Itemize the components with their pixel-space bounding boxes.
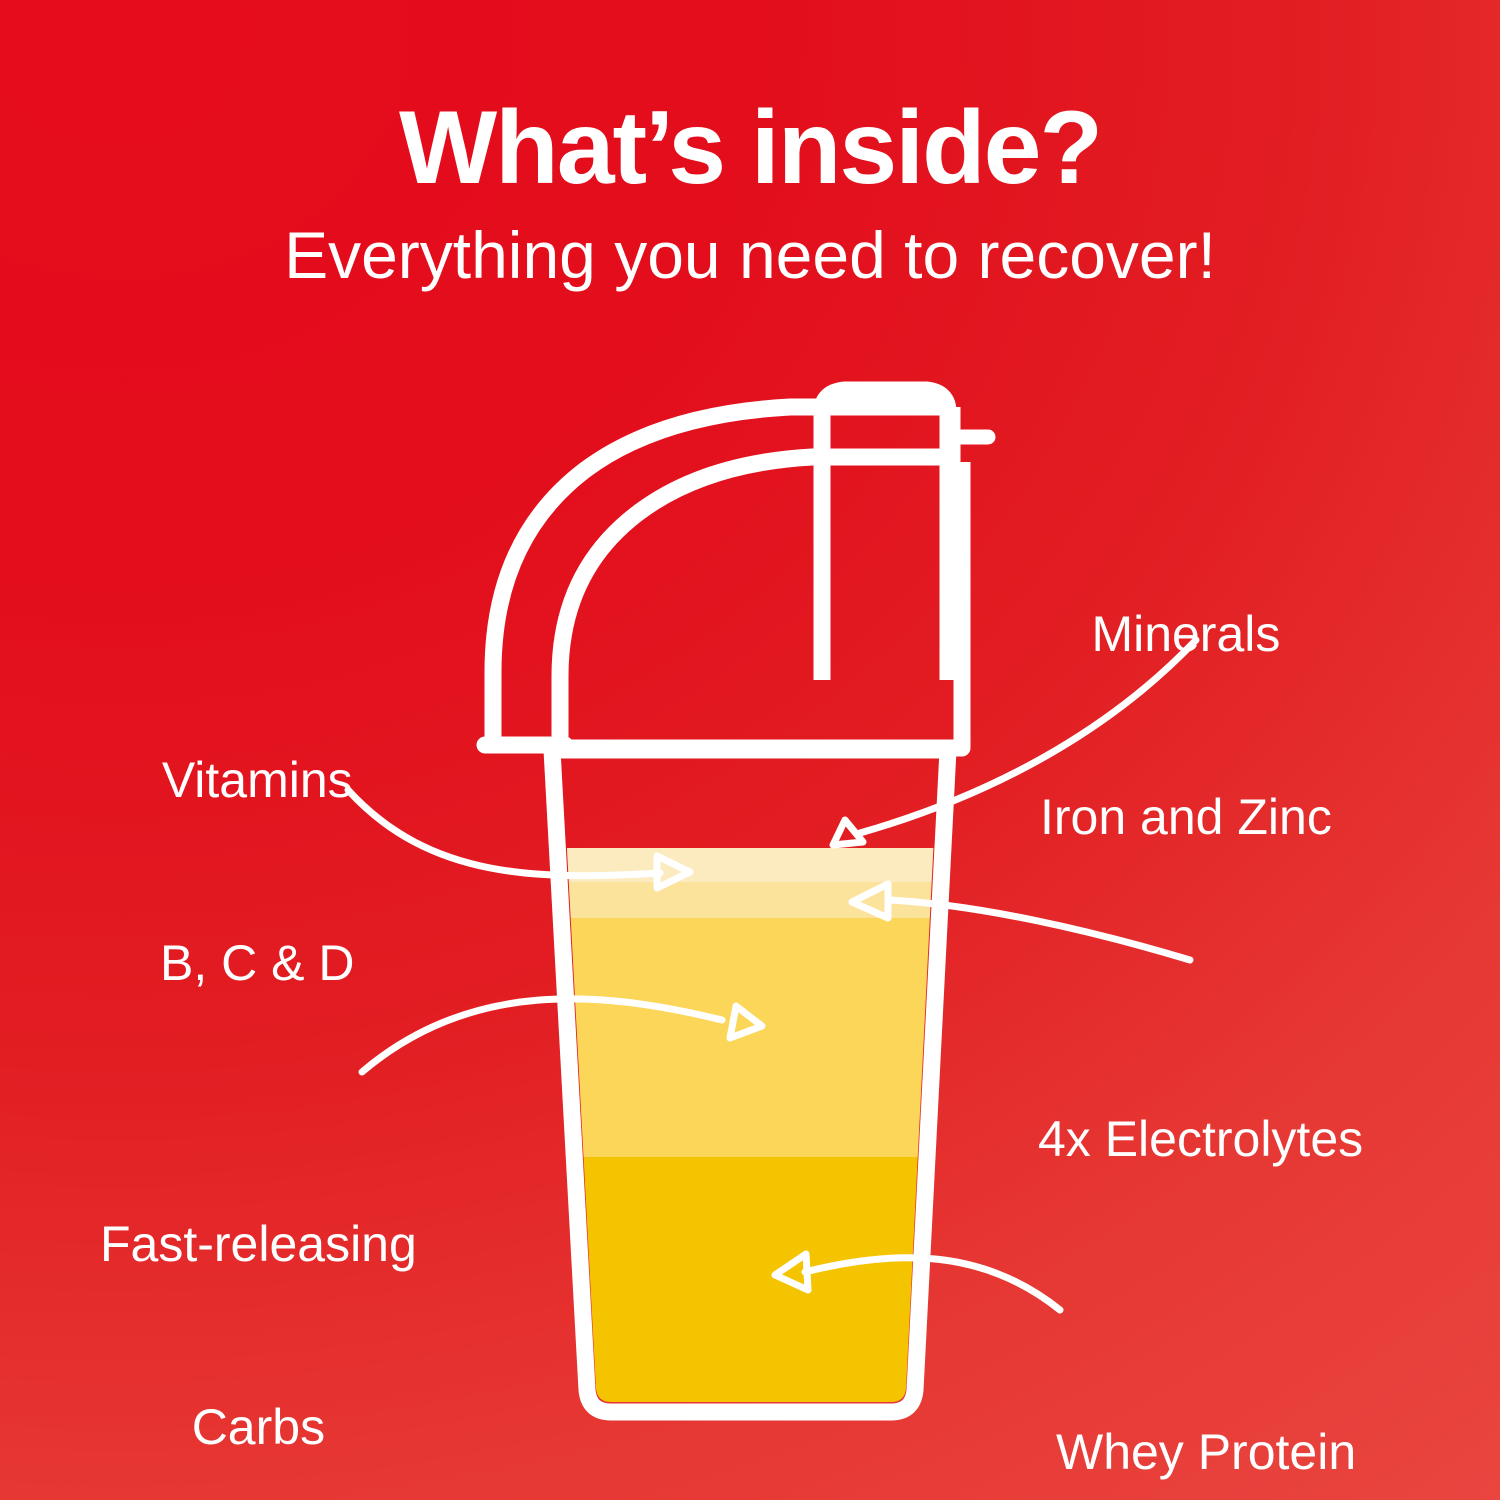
cap-lid-block — [822, 390, 948, 680]
liquid-stack — [540, 848, 960, 1417]
protein-layer — [540, 1157, 960, 1417]
callout-label-whey-protein: Whey Protein — [1056, 1300, 1356, 1500]
callout-label-vitamins: Vitamins B, C & D — [160, 628, 354, 1116]
vitamins-arrow — [348, 790, 690, 888]
carbs-layer — [540, 918, 960, 1157]
cap-inner-shell — [560, 457, 952, 745]
callout-vitamins-line2: B, C & D — [160, 933, 354, 994]
callout-vitamins-line1: Vitamins — [160, 750, 354, 811]
callout-label-carbs: Fast-releasing Carbs — [100, 1092, 417, 1500]
callout-electrolytes-line1: 4x Electrolytes — [1038, 1109, 1363, 1170]
callout-minerals-line1: Minerals — [1040, 604, 1332, 665]
callout-whey-line1: Whey Protein — [1056, 1422, 1356, 1483]
callout-carbs-line2: Carbs — [100, 1397, 417, 1458]
callout-label-electrolytes: 4x Electrolytes — [1038, 987, 1363, 1292]
cap-collar-band — [560, 680, 962, 748]
page-title: What’s inside? — [0, 96, 1500, 200]
callout-carbs-line1: Fast-releasing — [100, 1214, 417, 1275]
callout-label-minerals: Minerals Iron and Zinc — [1040, 482, 1332, 970]
callout-minerals-line2: Iron and Zinc — [1040, 787, 1332, 848]
infographic-canvas: What’s inside? Everything you need to re… — [0, 0, 1500, 1500]
page-subtitle: Everything you need to recover! — [0, 222, 1500, 288]
